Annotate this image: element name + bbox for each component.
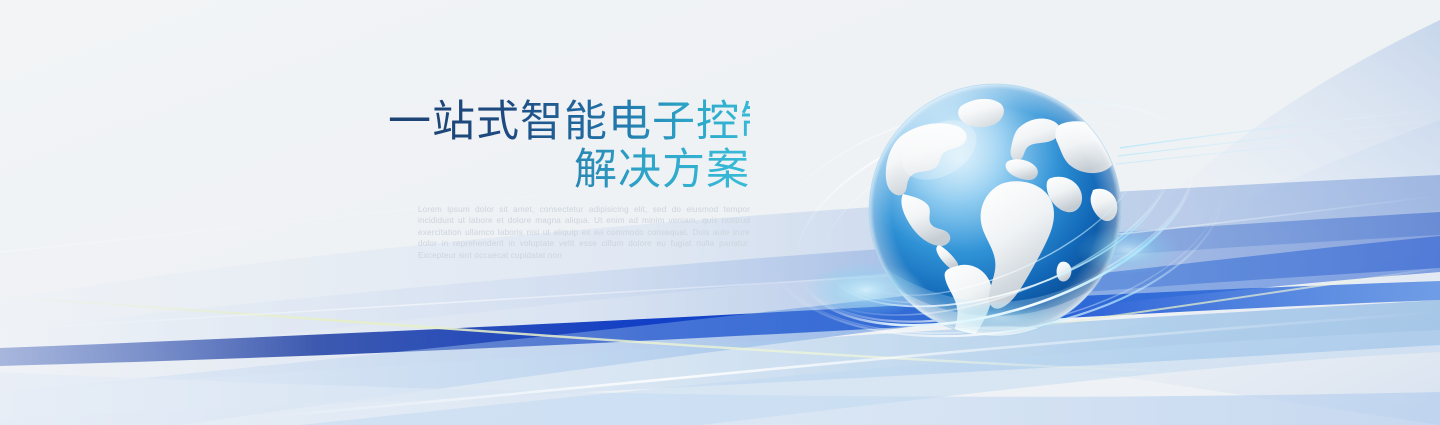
hero-body-copy: Lorem ipsum dolor sit amet, consectetur … bbox=[418, 204, 750, 261]
orbit-glow-right bbox=[1076, 226, 1180, 274]
headline-line-1: 一站式智能电子控制 bbox=[388, 98, 750, 146]
orbit-glow-bottom bbox=[930, 302, 1070, 334]
hero-text-block: 一站式智能电子控制 解决方案 Lorem ipsum dolor sit ame… bbox=[388, 98, 750, 261]
page-title: 一站式智能电子控制 解决方案 bbox=[388, 98, 750, 194]
headline-line-2: 解决方案 bbox=[388, 146, 750, 194]
hero-banner: 一站式智能电子控制 解决方案 Lorem ipsum dolor sit ame… bbox=[0, 0, 1440, 425]
orbit-glow-left bbox=[806, 262, 926, 318]
